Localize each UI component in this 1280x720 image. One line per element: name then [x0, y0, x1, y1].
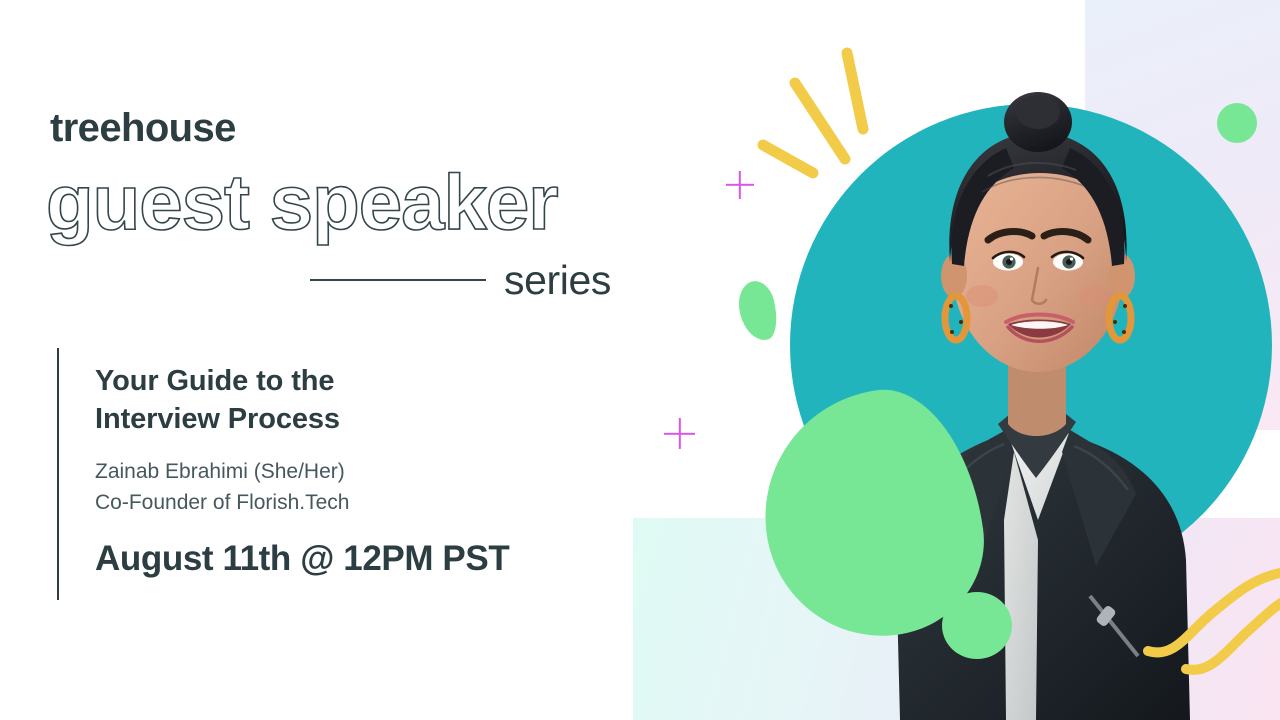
treehouse-wordmark: treehouse: [50, 108, 236, 148]
speaker-name: Zainab Ebrahimi (She/Her): [95, 456, 509, 488]
event-datetime: August 11th @ 12PM PST: [95, 541, 509, 576]
series-divider: [310, 279, 486, 281]
series-row: series: [310, 256, 625, 304]
talk-title: Your Guide to the Interview Process: [95, 362, 509, 439]
event-details: Your Guide to the Interview Process Zain…: [57, 348, 509, 600]
talk-title-line-1: Your Guide to the: [95, 362, 509, 400]
series-label: series: [504, 260, 611, 301]
talk-title-line-2: Interview Process: [95, 400, 509, 438]
speaker-role: Co-Founder of Florish.Tech: [95, 487, 509, 519]
promo-slide: treehouse guest speaker series Your Guid…: [0, 0, 1280, 720]
yellow-dashes-icon: [745, 35, 895, 185]
yellow-squiggle-icon: [1140, 555, 1280, 685]
page-title: guest speaker: [46, 163, 558, 241]
copy-column: treehouse guest speaker series Your Guid…: [0, 0, 680, 720]
green-blob-small: [733, 278, 782, 345]
green-circle-bottom: [942, 592, 1012, 659]
